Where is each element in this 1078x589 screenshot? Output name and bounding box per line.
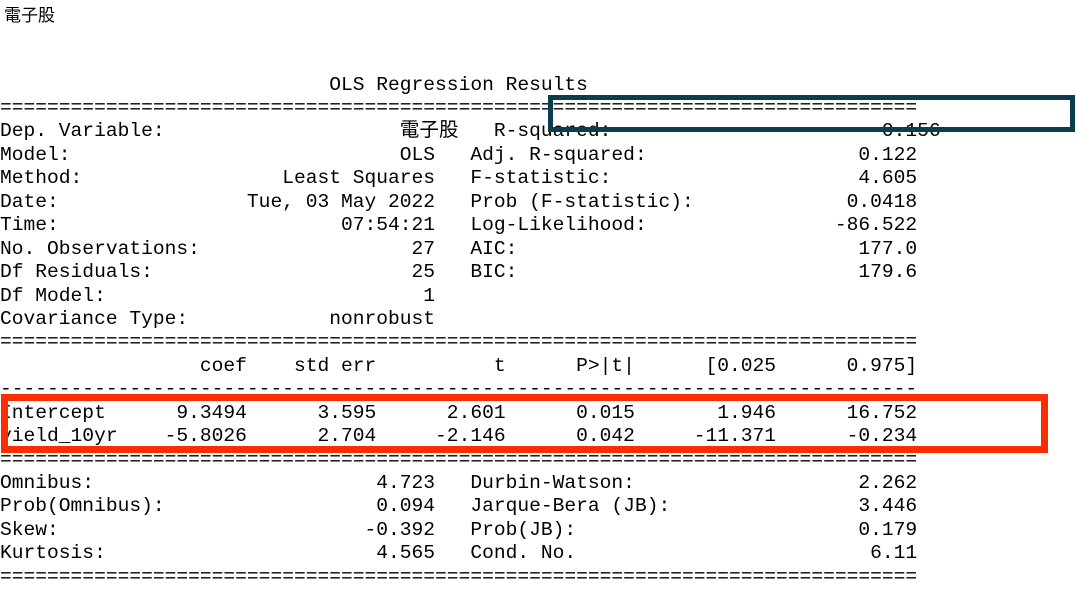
diagnostics-row-omnibus: Omnibus: 4.723 Durbin-Watson: 2.262 bbox=[0, 472, 1078, 495]
summary-row-time: Time: 07:54:21 Log-Likelihood: -86.522 bbox=[0, 214, 1078, 237]
summary-title: OLS Regression Results bbox=[0, 74, 1078, 97]
summary-row-df-model: Df Model: 1 bbox=[0, 285, 1078, 308]
rule-single: ----------------------------------------… bbox=[0, 378, 1078, 401]
summary-row-date: Date: Tue, 03 May 2022 Prob (F-statistic… bbox=[0, 191, 1078, 214]
ols-regression-summary: OLS Regression Results =================… bbox=[0, 74, 1078, 589]
coef-row-yield-10yr: yield_10yr -5.8026 2.704 -2.146 0.042 -1… bbox=[0, 425, 1078, 448]
summary-row-method: Method: Least Squares F-statistic: 4.605 bbox=[0, 167, 1078, 190]
rule-double-diagnostics-top: ========================================… bbox=[0, 449, 1078, 472]
rule-double-top: ========================================… bbox=[0, 97, 1078, 120]
diagnostics-row-skew: Skew: -0.392 Prob(JB): 0.179 bbox=[0, 519, 1078, 542]
coef-row-intercept: Intercept 9.3494 3.595 2.601 0.015 1.946… bbox=[0, 402, 1078, 425]
summary-row-covariance-type: Covariance Type: nonrobust bbox=[0, 308, 1078, 331]
summary-row-dep-variable: Dep. Variable: 電子股 R-squared: 0.156 bbox=[0, 120, 1078, 143]
rule-double-mid: ========================================… bbox=[0, 331, 1078, 354]
summary-row-no-observations: No. Observations: 27 AIC: 177.0 bbox=[0, 238, 1078, 261]
summary-row-df-residuals: Df Residuals: 25 BIC: 179.6 bbox=[0, 261, 1078, 284]
rule-double-bottom: ========================================… bbox=[0, 566, 1078, 589]
page-title-text: 電子股 bbox=[4, 4, 55, 28]
summary-row-model: Model: OLS Adj. R-squared: 0.122 bbox=[0, 144, 1078, 167]
diagnostics-row-prob-omnibus: Prob(Omnibus): 0.094 Jarque-Bera (JB): 3… bbox=[0, 495, 1078, 518]
coef-table-header: coef std err t P>|t| [0.025 0.975] bbox=[0, 355, 1078, 378]
diagnostics-row-kurtosis: Kurtosis: 4.565 Cond. No. 6.11 bbox=[0, 542, 1078, 565]
